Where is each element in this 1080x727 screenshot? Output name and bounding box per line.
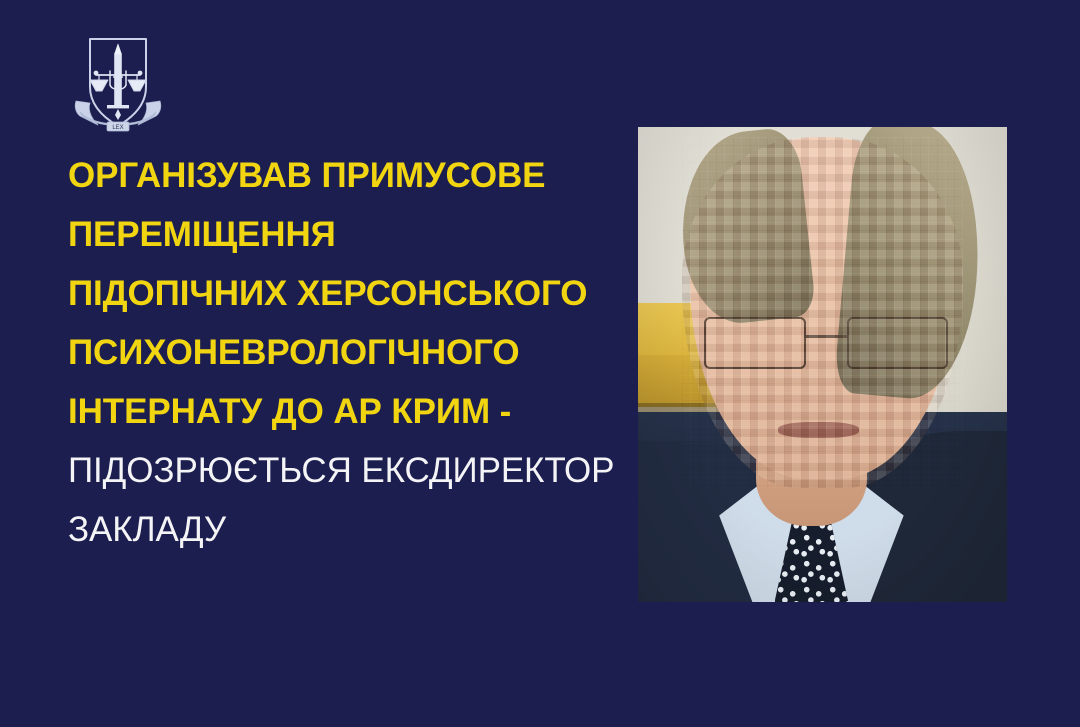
- headline-line-5: ІНТЕРНАТУ ДО АР КРИМ -: [68, 394, 613, 429]
- emblem-ribbon-text: LEX: [112, 125, 123, 131]
- headline-block: ОРГАНІЗУВАВ ПРИМУСОВЕ ПЕРЕМІЩЕННЯ ПІДОПІ…: [68, 158, 613, 571]
- photo-vignette: [638, 127, 1007, 602]
- headline-line-7: ЗАКЛАДУ: [68, 512, 613, 547]
- headline-line-2: ПЕРЕМІЩЕННЯ: [68, 217, 613, 252]
- headline-line-6: ПІДОЗРЮЄТЬСЯ ЕКСДИРЕКТОР: [68, 453, 613, 488]
- prosecutor-general-emblem-icon: LEX: [68, 27, 168, 139]
- headline-line-3: ПІДОПІЧНИХ ХЕРСОНСЬКОГО: [68, 276, 613, 311]
- headline-line-1: ОРГАНІЗУВАВ ПРИМУСОВЕ: [68, 158, 613, 193]
- suspect-portrait-photo: [638, 127, 1007, 602]
- headline-line-4: ПСИХОНЕВРОЛОГІЧНОГО: [68, 335, 613, 370]
- news-banner: LEX ОРГАНІЗУВАВ ПРИМУСОВЕ ПЕРЕМІЩЕННЯ ПІ…: [0, 0, 1080, 727]
